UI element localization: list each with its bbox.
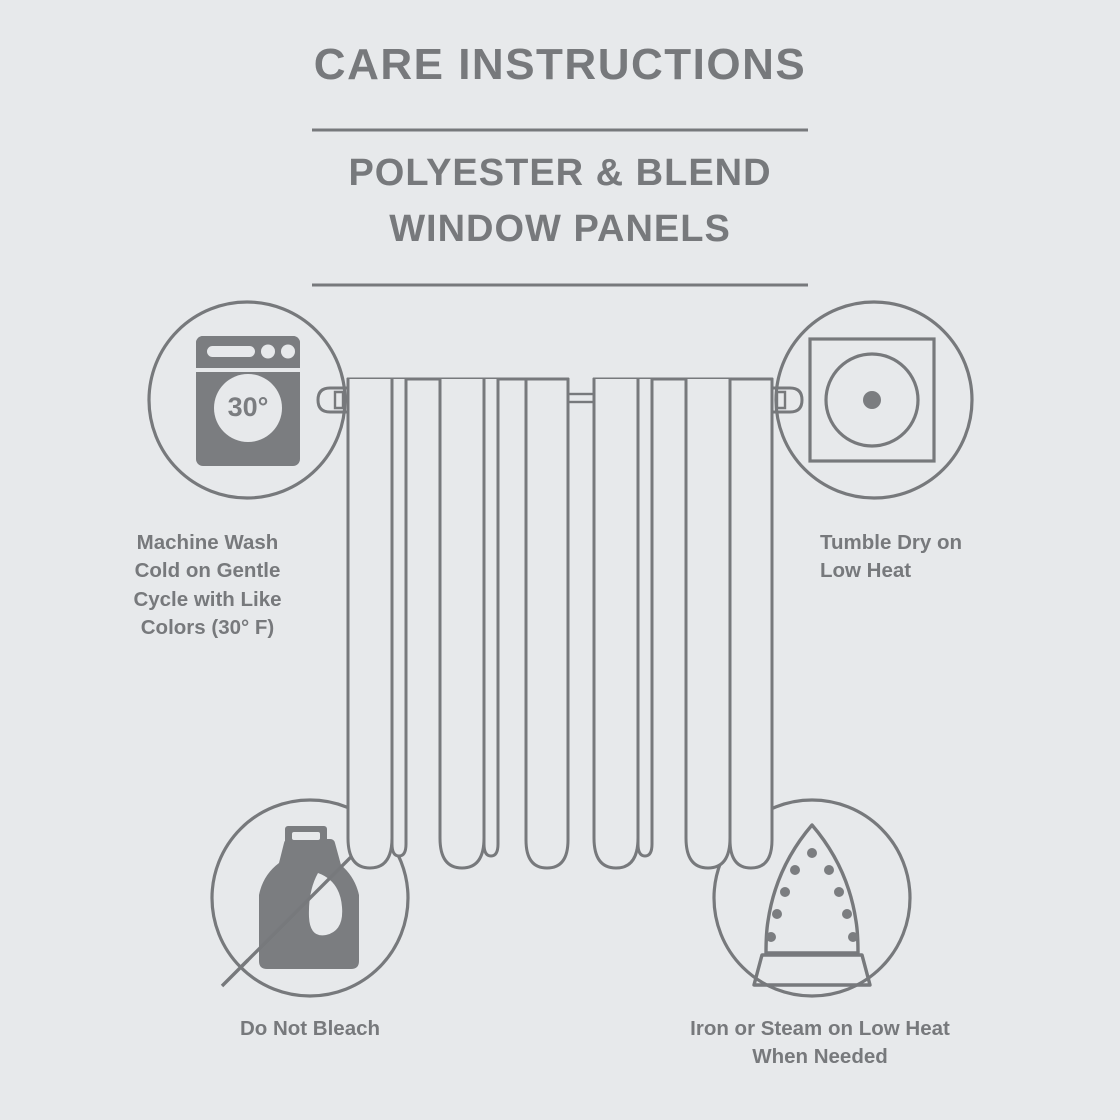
washer-knob-1	[261, 345, 275, 359]
iron-steam-holes	[766, 848, 858, 942]
caption-tumble-dry: Tumble Dry on Low Heat	[820, 529, 1120, 586]
tumble-dry-icon	[810, 339, 934, 461]
caption-machine-wash: Machine Wash Cold on Gentle Cycle with L…	[75, 529, 340, 642]
care-instructions-infographic: CARE INSTRUCTIONS POLYESTER & BLEND WIND…	[0, 0, 1120, 1120]
caption-iron: Iron or Steam on Low Heat When Needed	[600, 1015, 1040, 1072]
prohibition-slash-tail	[222, 960, 248, 986]
rod-shaft	[566, 394, 596, 402]
subtitle-line-2: WINDOW PANELS	[0, 208, 1120, 251]
caption-do-not-bleach: Do Not Bleach	[180, 1015, 440, 1043]
left-curtain-panel	[348, 379, 568, 868]
washer-knob-2	[281, 345, 295, 359]
iron-base	[754, 955, 870, 985]
iron-soleplate	[766, 825, 858, 953]
right-finial-collar	[777, 392, 785, 408]
subtitle-line-1: POLYESTER & BLEND	[0, 152, 1120, 195]
page-title: CARE INSTRUCTIONS	[0, 40, 1120, 90]
left-finial-collar	[335, 392, 343, 408]
right-curtain-panel	[594, 379, 772, 868]
wash-temperature-badge: 30°	[198, 392, 298, 423]
washer-slot	[207, 346, 255, 357]
dryer-dot	[863, 391, 881, 409]
